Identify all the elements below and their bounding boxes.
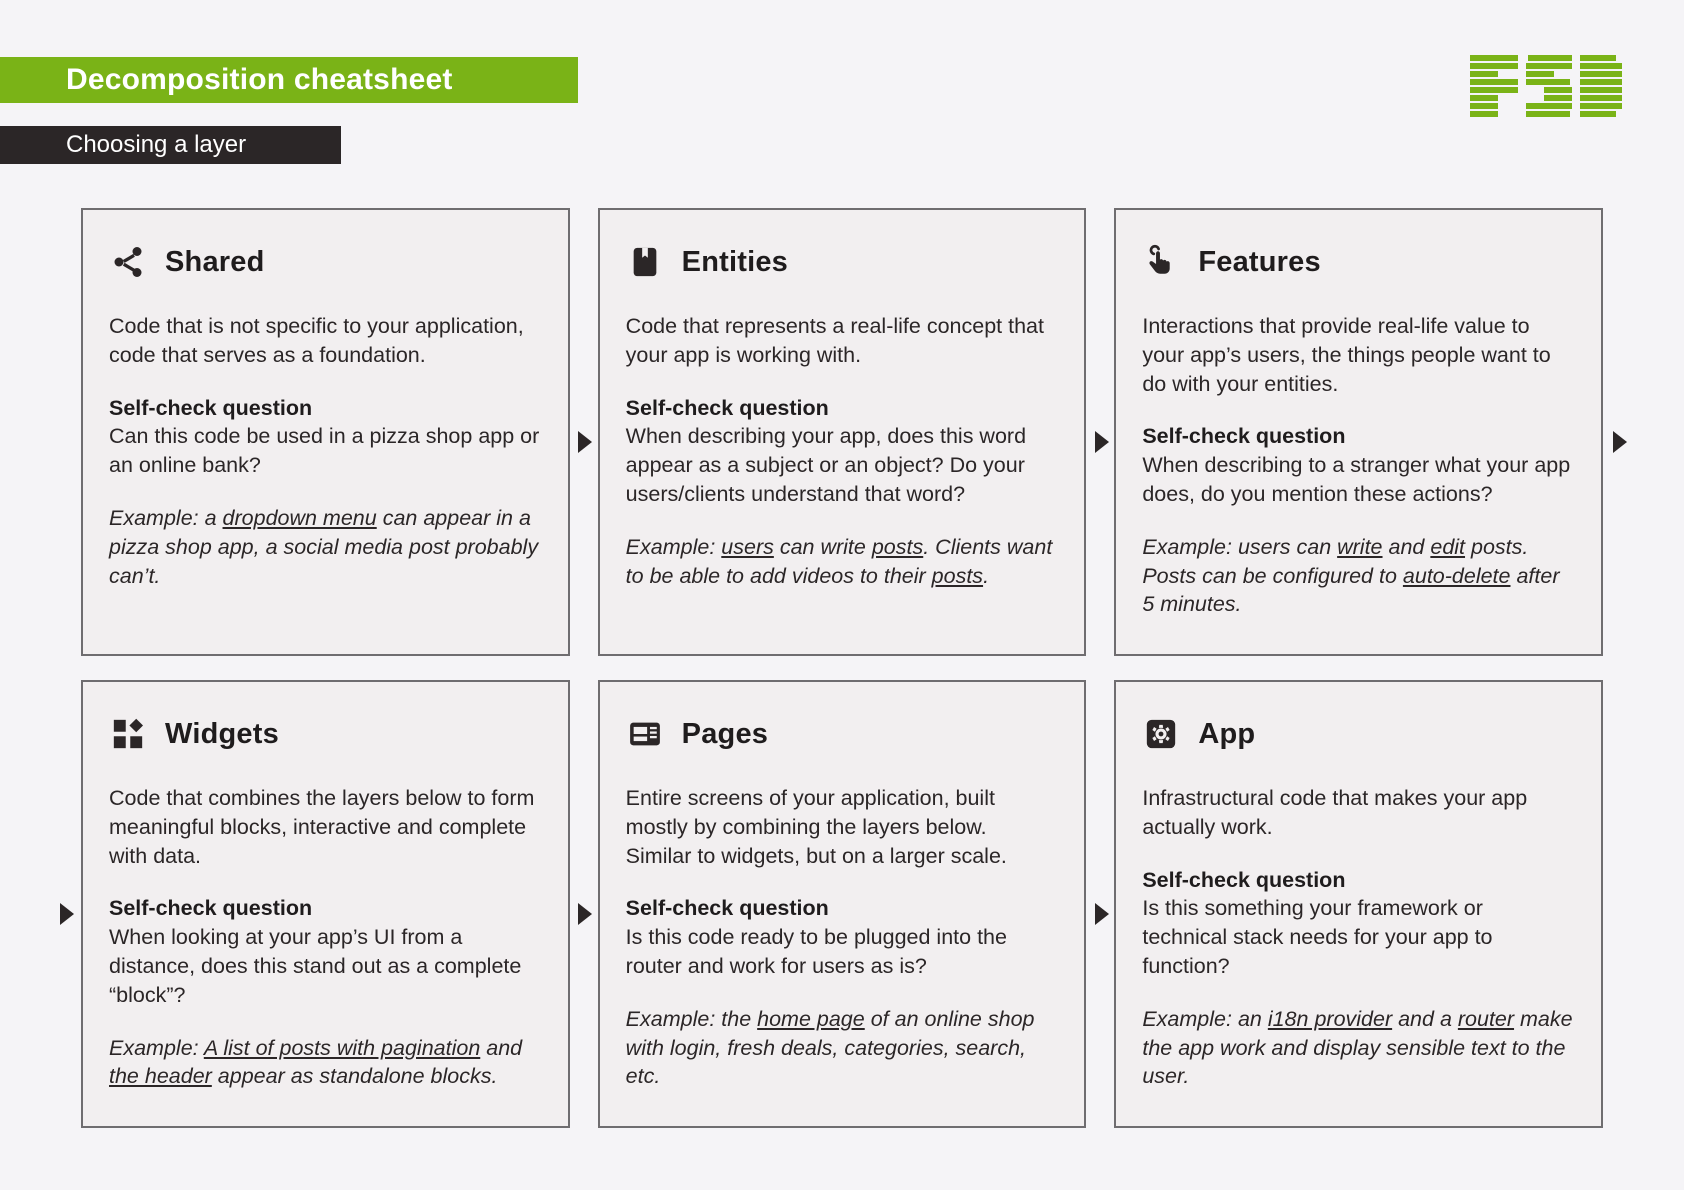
layer-card-entities[interactable]: Entities Code that represents a real-lif… xyxy=(598,208,1087,656)
flow-arrow-entities-to-features xyxy=(1095,431,1109,453)
card-title: Widgets xyxy=(165,718,279,751)
card-description: Interactions that provide real-life valu… xyxy=(1142,312,1573,398)
card-title: App xyxy=(1198,718,1255,751)
self-check-label: Self-check question xyxy=(1142,422,1573,451)
card-description: Infrastructural code that makes your app… xyxy=(1142,784,1573,842)
flow-arrow-shared-to-entities xyxy=(578,431,592,453)
card-description: Entire screens of your application, buil… xyxy=(626,784,1057,870)
card-example: Example: users can write and edit posts.… xyxy=(1142,533,1573,619)
self-check-question: Is this something your framework or tech… xyxy=(1142,894,1573,980)
dashboard-icon xyxy=(109,715,147,753)
self-check-label: Self-check question xyxy=(1142,866,1573,895)
card-example: Example: the home page of an online shop… xyxy=(626,1005,1057,1091)
flow-arrow-features-to-widgets xyxy=(1613,431,1627,453)
layer-card-features[interactable]: Features Interactions that provide real-… xyxy=(1114,208,1603,656)
card-title: Entities xyxy=(682,246,788,279)
card-description: Code that combines the layers below to f… xyxy=(109,784,540,870)
layer-card-shared[interactable]: Shared Code that is not specific to your… xyxy=(81,208,570,656)
layers-row-top: Shared Code that is not specific to your… xyxy=(81,208,1603,656)
layer-card-widgets[interactable]: Widgets Code that combines the layers be… xyxy=(81,680,570,1128)
self-check-question: Is this code ready to be plugged into th… xyxy=(626,923,1057,981)
card-header: Pages xyxy=(626,712,1057,756)
self-check-label: Self-check question xyxy=(109,394,540,423)
self-check-question: When describing to a stranger what your … xyxy=(1142,451,1573,509)
bookmark-icon xyxy=(626,243,664,281)
flow-arrow-widgets-to-pages xyxy=(578,903,592,925)
card-title: Features xyxy=(1198,246,1321,279)
self-check-label: Self-check question xyxy=(626,894,1057,923)
card-header: App xyxy=(1142,712,1573,756)
cheatsheet-page: Decomposition cheatsheet Choosing a laye… xyxy=(0,0,1684,1190)
layers-row-bottom: Widgets Code that combines the layers be… xyxy=(81,680,1603,1128)
fsd-logo xyxy=(1470,55,1622,125)
card-example: Example: an i18n provider and a router m… xyxy=(1142,1005,1573,1091)
layer-card-pages[interactable]: Pages Entire screens of your application… xyxy=(598,680,1087,1128)
card-header: Shared xyxy=(109,240,540,284)
layer-card-app[interactable]: App Infrastructural code that makes your… xyxy=(1114,680,1603,1128)
self-check-question: Can this code be used in a pizza shop ap… xyxy=(109,422,540,480)
web-page-icon xyxy=(626,715,664,753)
card-header: Widgets xyxy=(109,712,540,756)
self-check-question: When looking at your app’s UI from a dis… xyxy=(109,923,540,1009)
self-check-question: When describing your app, does this word… xyxy=(626,422,1057,508)
flow-arrow-pages-to-app xyxy=(1095,903,1109,925)
card-example: Example: users can write posts. Clients … xyxy=(626,533,1057,591)
tap-hand-icon xyxy=(1142,243,1180,281)
card-title: Pages xyxy=(682,718,768,751)
card-example: Example: A list of posts with pagination… xyxy=(109,1034,540,1092)
card-header: Entities xyxy=(626,240,1057,284)
page-subtitle-banner: Choosing a layer xyxy=(0,126,341,164)
flow-arrow-into-widgets xyxy=(60,903,74,925)
card-header: Features xyxy=(1142,240,1573,284)
page-title: Decomposition cheatsheet xyxy=(0,63,453,97)
gear-square-icon xyxy=(1142,715,1180,753)
self-check-label: Self-check question xyxy=(109,894,540,923)
self-check-label: Self-check question xyxy=(626,394,1057,423)
card-description: Code that is not specific to your applic… xyxy=(109,312,540,370)
share-icon xyxy=(109,243,147,281)
page-title-banner: Decomposition cheatsheet xyxy=(0,57,578,103)
layers-grid: Shared Code that is not specific to your… xyxy=(81,208,1603,1128)
card-title: Shared xyxy=(165,246,265,279)
page-subtitle: Choosing a layer xyxy=(0,131,246,159)
card-example: Example: a dropdown menu can appear in a… xyxy=(109,504,540,590)
card-description: Code that represents a real-life concept… xyxy=(626,312,1057,370)
